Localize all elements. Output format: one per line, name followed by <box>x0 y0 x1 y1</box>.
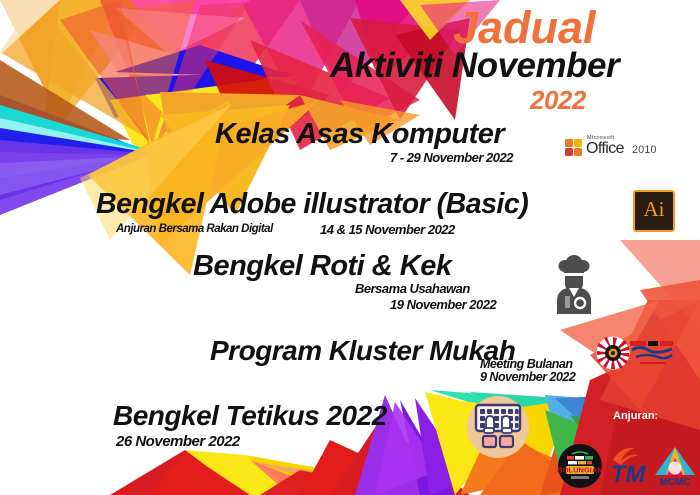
svg-text:TM: TM <box>611 461 647 486</box>
event-3-name: Bengkel Roti & Kek <box>193 250 452 283</box>
event-1-date: 7 - 29 November 2022 <box>390 150 513 165</box>
event-5-name: Bengkel Tetikus 2022 <box>113 400 387 432</box>
event-2-date: 14 & 15 November 2022 <box>320 222 455 237</box>
ai-label: Ai <box>635 197 673 222</box>
event-2-name: Bengkel Adobe illustrator (Basic) <box>96 188 528 221</box>
chef-icon <box>551 252 597 314</box>
event-4-name: Program Kluster Mukah <box>210 335 515 367</box>
microsoft-office-2010-logo-icon: Microsoft Office 2010 <box>565 131 660 161</box>
poster-title-year: 2022 <box>530 85 586 116</box>
sponsor-bolungian-logo-icon: BOLUNGIAN <box>557 443 603 489</box>
adobe-illustrator-logo-icon: Ai <box>633 190 675 232</box>
event-3-subtitle: Bersama Usahawan <box>355 281 470 296</box>
svg-text:MCMC: MCMC <box>659 477 690 488</box>
sponsors-heading: Anjuran: <box>613 410 658 422</box>
keyboard-typing-icon <box>466 395 530 459</box>
svg-text:BOLUNGIAN: BOLUNGIAN <box>557 466 602 475</box>
event-1-name: Kelas Asas Komputer <box>215 118 504 151</box>
office-square-yellow <box>574 139 582 147</box>
event-4-subtitle: Meeting Bulanan <box>480 357 573 371</box>
kluster-mukah-badge-icon <box>596 336 630 370</box>
office-square-orange <box>565 139 573 147</box>
poster-title-subtitle: Aktiviti November <box>330 46 619 86</box>
poster-canvas: Jadual Aktiviti November 2022 Kelas Asas… <box>0 0 700 495</box>
sponsor-tm-logo-icon: TM <box>605 444 651 486</box>
sponsor-mcmc-logo-icon: MCMC <box>652 444 698 488</box>
event-4-date: 9 November 2022 <box>480 370 575 384</box>
event-3-date: 19 November 2022 <box>390 297 496 312</box>
office-square-red <box>565 148 573 156</box>
office-name-text: Office <box>586 140 624 158</box>
event-2-subtitle: Anjuran Bersama Rakan Digital <box>116 223 273 235</box>
kluster-mukah-wordmark-icon <box>628 338 676 368</box>
event-5-date: 26 November 2022 <box>116 433 240 450</box>
office-square-orange2 <box>574 148 582 156</box>
office-version-text: 2010 <box>632 144 656 156</box>
